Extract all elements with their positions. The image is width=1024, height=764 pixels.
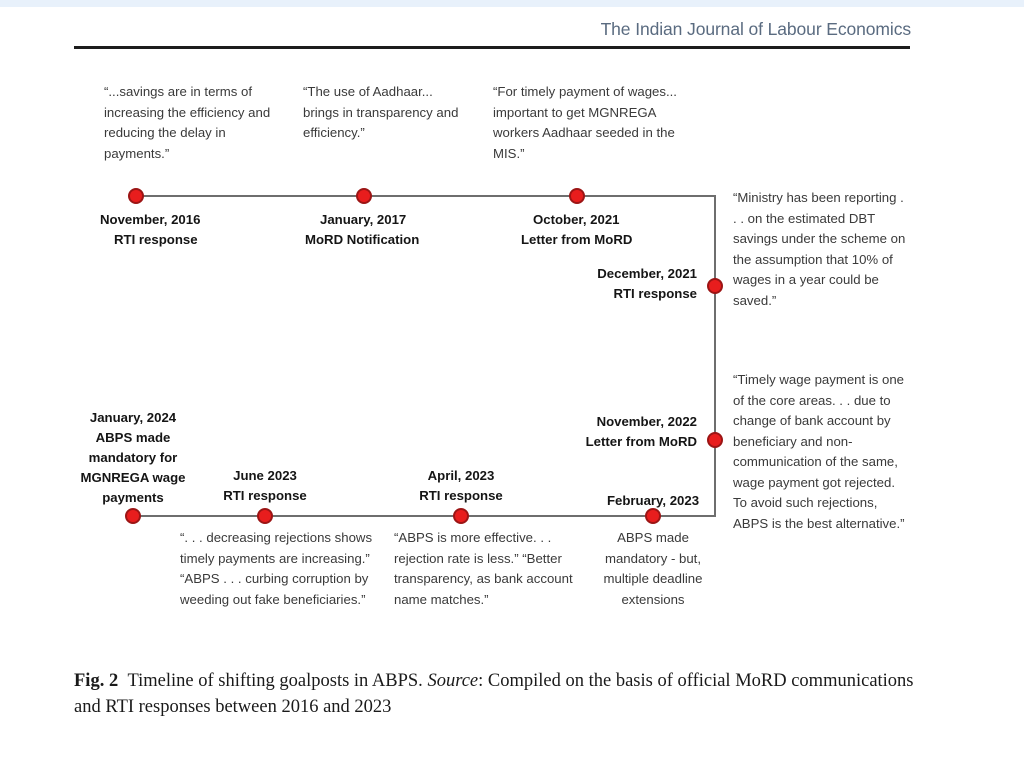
- journal-title: The Indian Journal of Labour Economics: [601, 19, 911, 40]
- page-top-band: [0, 0, 1024, 7]
- label-dec-2021-source: RTI response: [497, 284, 697, 304]
- quote-oct-2021: “For timely payment of wages... importan…: [493, 82, 693, 164]
- quote-nov-2022: “Timely wage payment is one of the core …: [733, 370, 909, 534]
- figure-caption-number: Fig. 2: [74, 671, 118, 691]
- label-jan-2017-source: MoRD Notification: [305, 230, 505, 250]
- timeline-dot-apr-2023[interactable]: [453, 508, 469, 524]
- figure-caption-text: Timeline of shifting goalposts in ABPS.: [127, 671, 422, 691]
- timeline-dot-jan-2017[interactable]: [356, 188, 372, 204]
- label-nov-2022-source: Letter from MoRD: [487, 432, 697, 452]
- label-apr-2023-date: April, 2023: [391, 466, 531, 486]
- label-apr-2023-source: RTI response: [391, 486, 531, 506]
- quote-nov-2016: “...savings are in terms of increasing t…: [104, 82, 279, 164]
- label-jan-2017-date: January, 2017: [320, 210, 500, 230]
- timeline-dot-nov-2022[interactable]: [707, 432, 723, 448]
- figure-caption-source-label: Source: [427, 671, 478, 691]
- timeline-dot-dec-2021[interactable]: [707, 278, 723, 294]
- label-dec-2021-date: December, 2021: [497, 264, 697, 284]
- figure-page: The Indian Journal of Labour Economics “…: [0, 0, 1024, 764]
- label-jan-2024-source: ABPS made mandatory for MGNREGA wage pay…: [73, 428, 193, 508]
- timeline-top-segment: [136, 195, 715, 197]
- header-rule: [74, 46, 910, 49]
- timeline-dot-jun-2023[interactable]: [257, 508, 273, 524]
- figure-caption: Fig. 2 Timeline of shifting goalposts in…: [74, 668, 919, 720]
- label-jun-2023-source: RTI response: [195, 486, 335, 506]
- label-nov-2016-date: November, 2016: [100, 210, 280, 230]
- timeline-dot-nov-2016[interactable]: [128, 188, 144, 204]
- timeline-dot-jan-2024[interactable]: [125, 508, 141, 524]
- label-nov-2016-source: RTI response: [114, 230, 294, 250]
- quote-jun-2023: “. . . decreasing rejections shows timel…: [180, 528, 380, 610]
- label-oct-2021-date: October, 2021: [533, 210, 713, 230]
- quote-dec-2021: “Ministry has been reporting . . . on th…: [733, 188, 911, 311]
- quote-feb-2023: ABPS made mandatory - but, multiple dead…: [593, 528, 713, 610]
- timeline-dot-feb-2023[interactable]: [645, 508, 661, 524]
- timeline-dot-oct-2021[interactable]: [569, 188, 585, 204]
- label-jan-2024-date: January, 2024: [43, 408, 223, 428]
- timeline-bottom-segment: [133, 515, 715, 517]
- label-jun-2023-date: June 2023: [195, 466, 335, 486]
- quote-apr-2023: “ABPS is more effective. . . rejection r…: [394, 528, 584, 610]
- label-nov-2022-date: November, 2022: [487, 412, 697, 432]
- label-oct-2021-source: Letter from MoRD: [521, 230, 721, 250]
- quote-jan-2017: “The use of Aadhaar... brings in transpa…: [303, 82, 463, 144]
